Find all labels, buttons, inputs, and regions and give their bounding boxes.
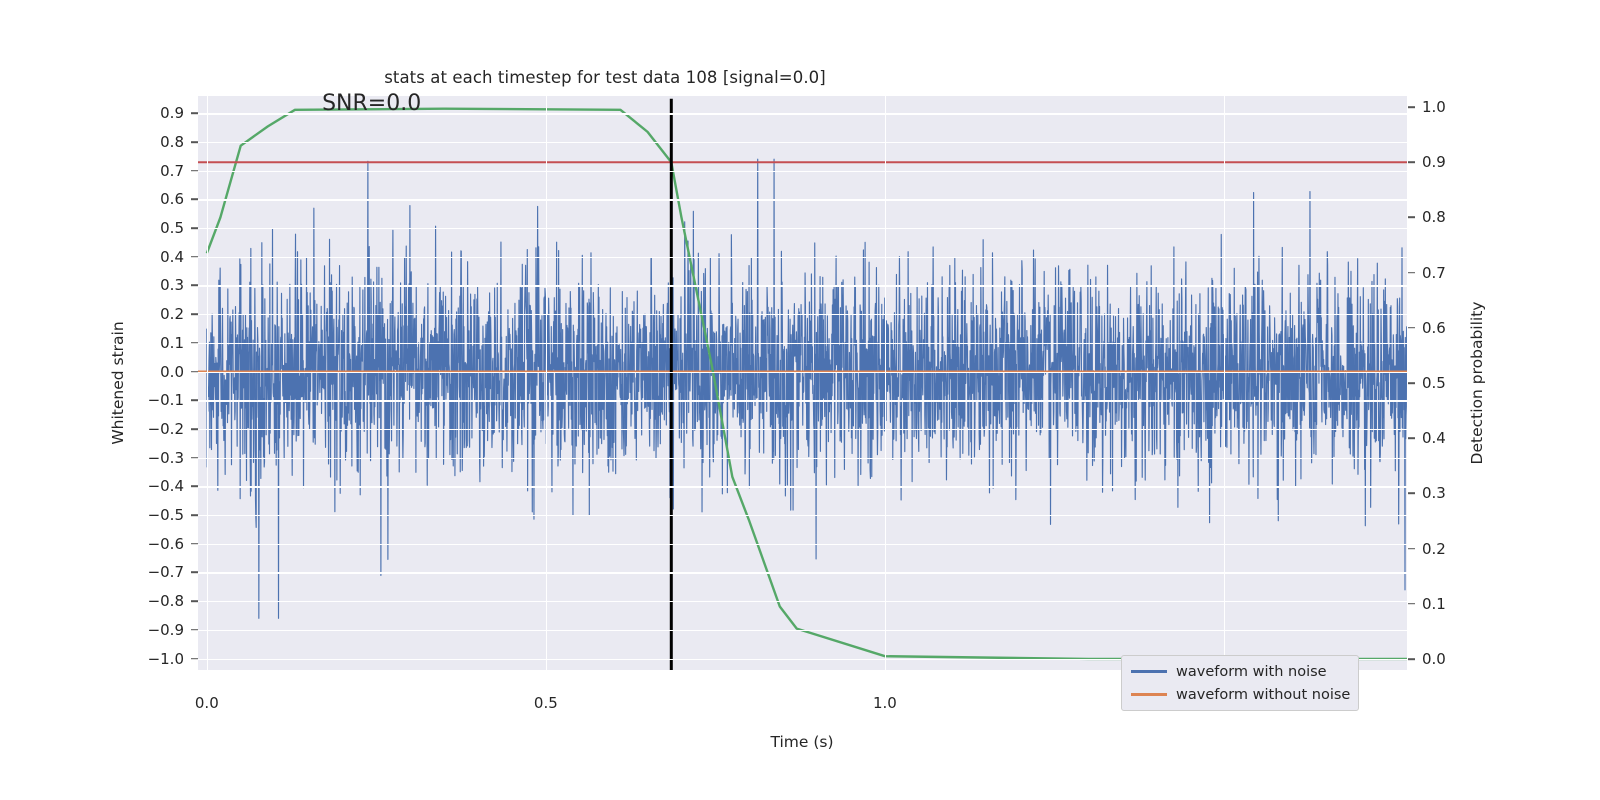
y-tick-mark-right xyxy=(1408,217,1415,219)
gridline-h xyxy=(198,314,1407,315)
gridline-h xyxy=(198,458,1407,459)
gridline-h xyxy=(198,142,1407,143)
gridline-h xyxy=(198,400,1407,401)
gridline-h xyxy=(198,257,1407,258)
y-tick-label-right: 0.0 xyxy=(1422,650,1446,668)
gridline-h xyxy=(198,199,1407,200)
gridline-v xyxy=(546,96,547,670)
y-tick-label-left: 0.7 xyxy=(160,162,184,180)
legend-item-0[interactable]: waveform with noise xyxy=(1131,663,1349,680)
y-tick-label-left: −0.4 xyxy=(148,477,184,495)
y-tick-label-left: −0.2 xyxy=(148,420,184,438)
y-tick-mark-left xyxy=(191,285,198,287)
gridline-h xyxy=(198,601,1407,602)
gridline-h xyxy=(198,429,1407,430)
gridline-h xyxy=(198,515,1407,516)
y-tick-mark-left xyxy=(191,342,198,344)
y-tick-mark-left xyxy=(191,399,198,401)
plot-area[interactable] xyxy=(198,96,1407,670)
page-title: stats at each timestep for test data 108… xyxy=(0,68,1405,87)
gridline-h xyxy=(198,171,1407,172)
y-tick-label-left: −0.1 xyxy=(148,391,184,409)
y-tick-label-right: 0.2 xyxy=(1422,540,1446,558)
y-tick-mark-left xyxy=(191,486,198,488)
gridline-h xyxy=(198,343,1407,344)
gridline-h xyxy=(198,228,1407,229)
y-tick-mark-right xyxy=(1408,161,1415,163)
y-tick-mark-left xyxy=(191,457,198,459)
legend-swatch-waveform-with-noise xyxy=(1131,670,1167,672)
y-tick-label-left: −0.8 xyxy=(148,592,184,610)
y-tick-mark-left xyxy=(191,112,198,114)
y-tick-label-right: 0.5 xyxy=(1422,374,1446,392)
y-axis-label-left: Whitened strain xyxy=(109,321,127,444)
y-tick-mark-left xyxy=(191,170,198,172)
gridline-v xyxy=(885,96,886,670)
y-tick-label-right: 0.7 xyxy=(1422,264,1446,282)
y-tick-label-right: 0.9 xyxy=(1422,153,1446,171)
y-tick-label-left: −1.0 xyxy=(148,650,184,668)
gridline-h xyxy=(198,630,1407,631)
snr-annotation: SNR=0.0 xyxy=(322,91,421,116)
y-tick-mark-right xyxy=(1408,327,1415,329)
data-series-layer xyxy=(198,96,1407,670)
legend-swatch-waveform-without-noise xyxy=(1131,693,1167,695)
y-tick-mark-right xyxy=(1408,106,1415,108)
y-tick-label-left: 0.1 xyxy=(160,334,184,352)
y-tick-mark-right xyxy=(1408,382,1415,384)
y-tick-label-left: 0.6 xyxy=(160,190,184,208)
legend-label-0: waveform with noise xyxy=(1176,664,1327,680)
y-tick-mark-right xyxy=(1408,548,1415,550)
y-tick-label-right: 0.6 xyxy=(1422,319,1446,337)
x-tick-label: 1.0 xyxy=(873,694,897,712)
y-tick-mark-left xyxy=(191,600,198,602)
y-tick-mark-left xyxy=(191,313,198,315)
y-tick-label-left: −0.7 xyxy=(148,563,184,581)
gridline-h xyxy=(198,572,1407,573)
y-tick-mark-left xyxy=(191,371,198,373)
gridline-v xyxy=(1224,96,1225,670)
y-tick-mark-left xyxy=(191,572,198,574)
y-tick-label-left: −0.9 xyxy=(148,621,184,639)
y-tick-label-left: −0.5 xyxy=(148,506,184,524)
y-tick-label-left: 0.0 xyxy=(160,363,184,381)
y-tick-mark-right xyxy=(1408,272,1415,274)
legend-item-1[interactable]: waveform without noise xyxy=(1131,686,1349,703)
y-tick-label-left: −0.6 xyxy=(148,535,184,553)
figure-canvas: stats at each timestep for test data 108… xyxy=(0,0,1600,800)
y-tick-mark-right xyxy=(1408,493,1415,495)
gridline-h xyxy=(198,372,1407,373)
y-tick-label-left: 0.4 xyxy=(160,248,184,266)
gridline-h xyxy=(198,544,1407,545)
y-tick-mark-left xyxy=(191,629,198,631)
gridline-h xyxy=(198,486,1407,487)
y-tick-mark-right xyxy=(1408,658,1415,660)
y-tick-mark-left xyxy=(191,428,198,430)
gridline-v xyxy=(207,96,208,670)
y-tick-label-left: 0.2 xyxy=(160,305,184,323)
y-tick-label-left: −0.3 xyxy=(148,449,184,467)
gridline-h xyxy=(198,285,1407,286)
y-tick-mark-left xyxy=(191,227,198,229)
y-tick-label-left: 0.8 xyxy=(160,133,184,151)
y-tick-mark-right xyxy=(1408,603,1415,605)
y-tick-label-right: 0.4 xyxy=(1422,429,1446,447)
y-tick-label-right: 0.8 xyxy=(1422,208,1446,226)
y-tick-label-left: 0.5 xyxy=(160,219,184,237)
y-tick-label-left: 0.3 xyxy=(160,276,184,294)
y-tick-mark-left xyxy=(191,141,198,143)
y-tick-label-right: 0.1 xyxy=(1422,595,1446,613)
y-tick-mark-left xyxy=(191,543,198,545)
y-tick-mark-left xyxy=(191,658,198,660)
y-tick-label-right: 1.0 xyxy=(1422,98,1446,116)
x-axis-label: Time (s) xyxy=(770,733,833,751)
y-tick-label-left: 0.9 xyxy=(160,104,184,122)
y-axis-label-right: Detection probability xyxy=(1468,302,1486,465)
legend[interactable]: waveform with noise waveform without noi… xyxy=(1121,655,1359,711)
legend-label-1: waveform without noise xyxy=(1176,687,1350,703)
y-tick-mark-left xyxy=(191,256,198,258)
x-tick-label: 0.5 xyxy=(534,694,558,712)
y-tick-mark-right xyxy=(1408,437,1415,439)
y-tick-mark-left xyxy=(191,514,198,516)
y-tick-mark-left xyxy=(191,199,198,201)
y-tick-label-right: 0.3 xyxy=(1422,484,1446,502)
x-tick-label: 0.0 xyxy=(195,694,219,712)
